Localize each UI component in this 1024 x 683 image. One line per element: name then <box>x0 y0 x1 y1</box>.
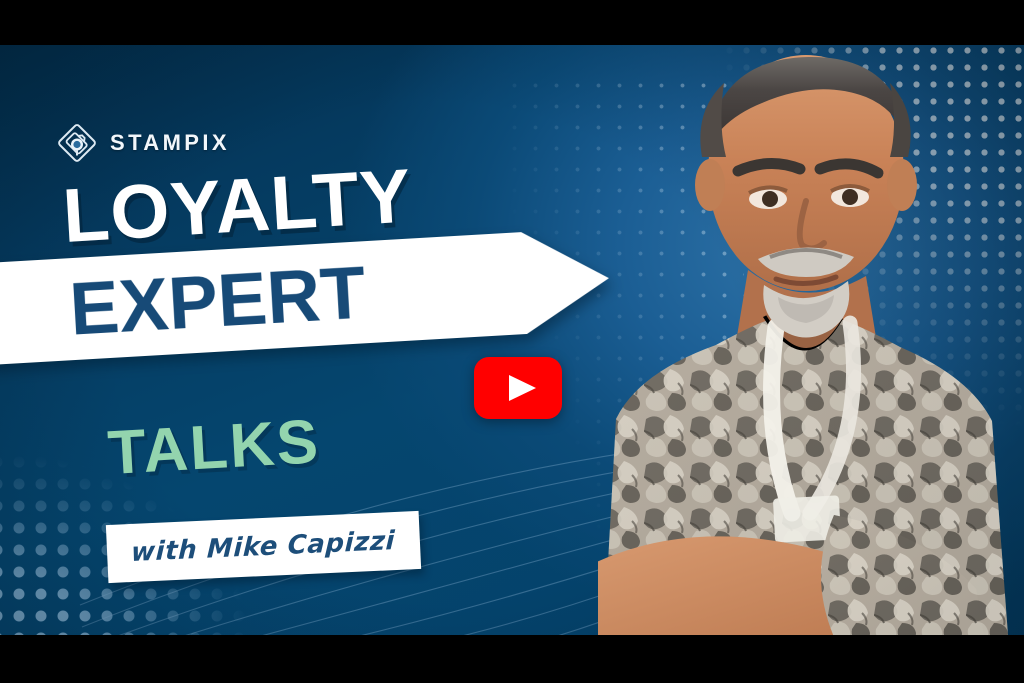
title-talks: TALKS <box>106 406 322 489</box>
thumbnail-stage: STAMPIX LOYALTY EXPERT TALKS with Mike C… <box>0 45 1024 635</box>
title-expert: EXPERT <box>67 250 367 352</box>
stampix-wordmark: STAMPIX <box>110 130 230 156</box>
stampix-logo[interactable]: STAMPIX <box>57 123 230 163</box>
youtube-play-button[interactable] <box>474 357 562 419</box>
presenter-portrait <box>598 45 1024 635</box>
letterbox-bar-top <box>0 0 1024 45</box>
presenter-credit-text: with Mike Capizzi <box>131 526 396 568</box>
video-thumbnail-frame[interactable]: STAMPIX LOYALTY EXPERT TALKS with Mike C… <box>0 0 1024 683</box>
letterbox-bar-bottom <box>0 635 1024 683</box>
camera-diamond-icon <box>57 123 97 163</box>
